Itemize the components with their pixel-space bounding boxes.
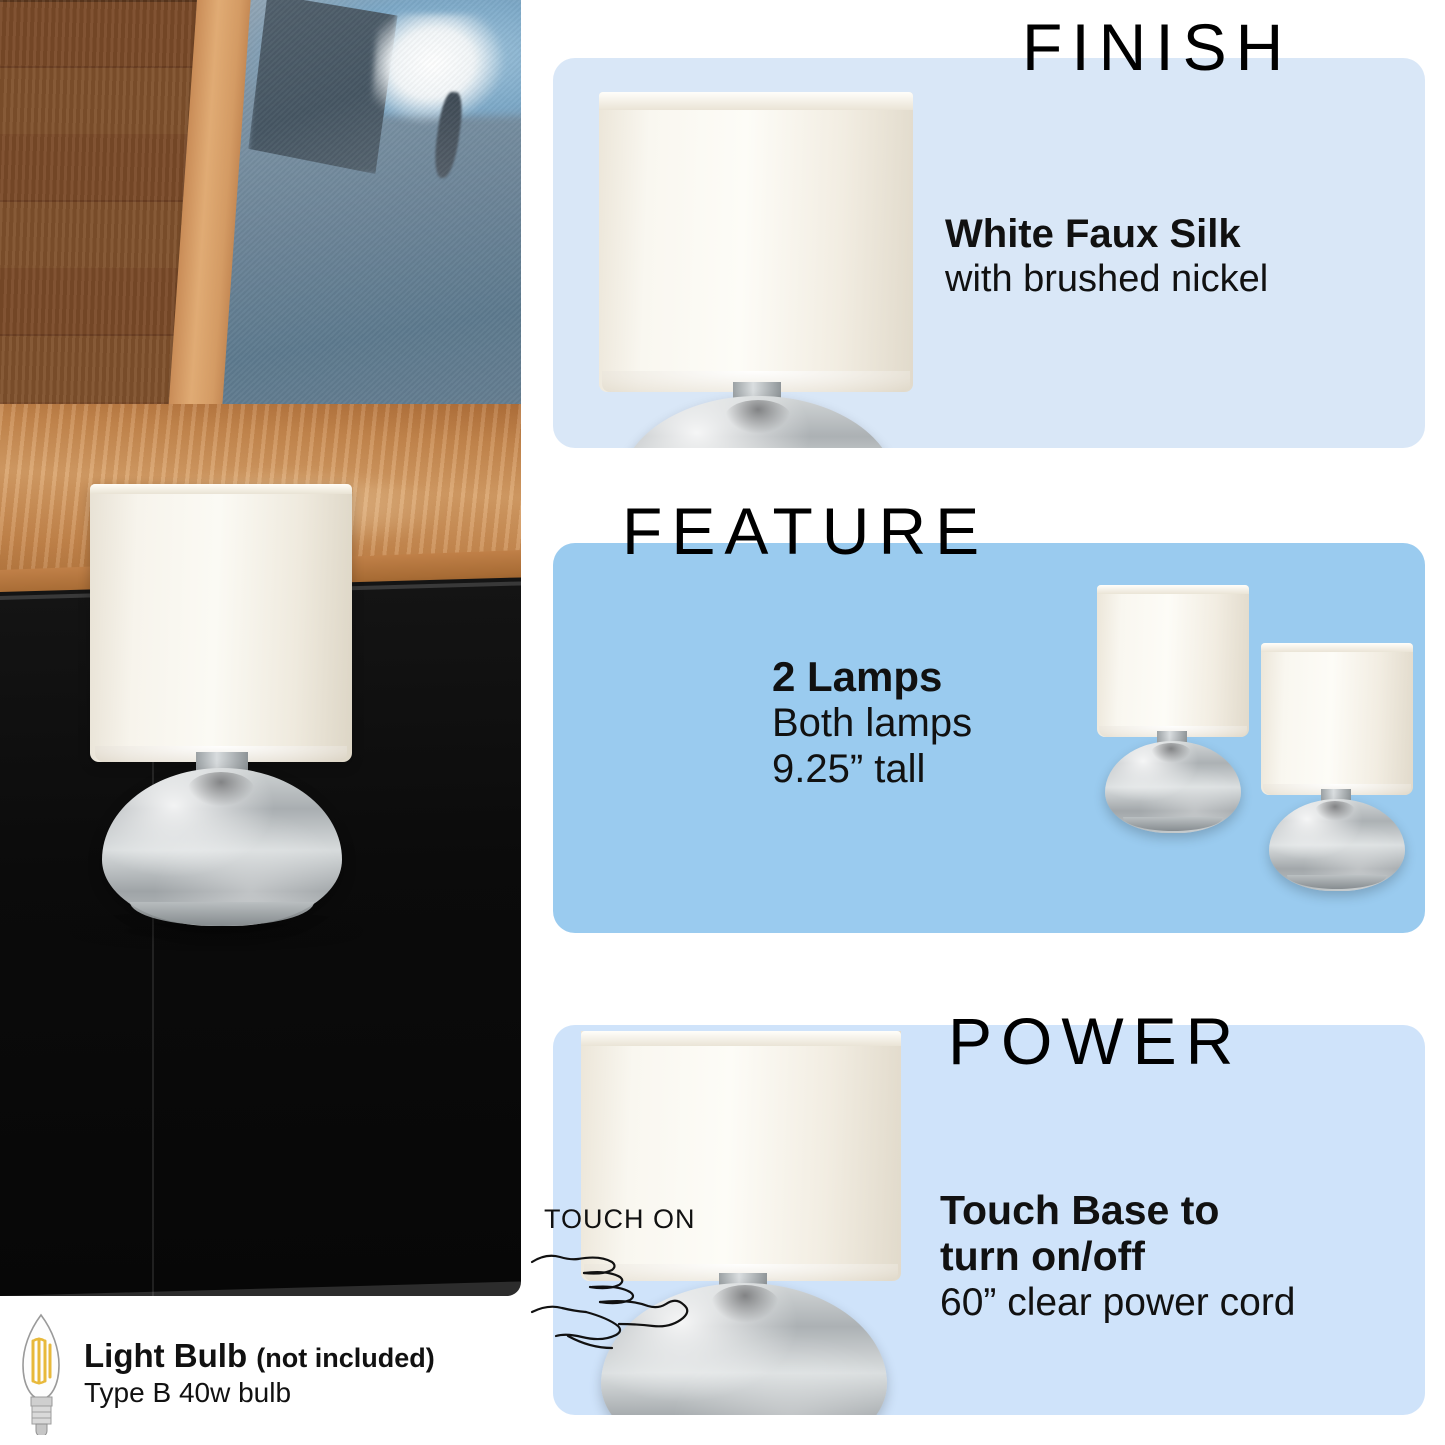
lamp-base-dimple	[725, 400, 791, 434]
finish-line-2: with brushed nickel	[945, 257, 1268, 301]
finish-heading: FINISH	[1022, 14, 1292, 80]
feature-text-block: 2 Lamps Both lamps 9.25” tall	[772, 653, 972, 793]
power-heading: POWER	[948, 1008, 1242, 1074]
feature-two-lamps-image	[1083, 585, 1423, 925]
feature-panel	[553, 543, 1425, 933]
lamp-shade	[1097, 585, 1249, 737]
lifestyle-photo	[0, 0, 521, 1296]
touch-hand-illustration	[528, 1228, 738, 1358]
feature-lamp-right	[1247, 643, 1425, 913]
power-line-3: 60” clear power cord	[940, 1280, 1296, 1325]
artwork-grain-texture	[220, 0, 521, 434]
feature-line-2: Both lamps	[772, 700, 972, 746]
light-bulb-icon	[12, 1311, 70, 1435]
feature-line-1: 2 Lamps	[772, 653, 972, 700]
light-bulb-text-block: Light Bulb (not included) Type B 40w bul…	[84, 1337, 435, 1409]
feature-heading: FEATURE	[622, 498, 988, 564]
lamp-shade	[599, 92, 913, 392]
lifestyle-touch-lamp	[76, 484, 366, 936]
lamp-shade	[90, 484, 352, 762]
power-text-block: Touch Base to turn on/off 60” clear powe…	[940, 1188, 1296, 1325]
power-line-2: turn on/off	[940, 1234, 1296, 1280]
power-line-1: Touch Base to	[940, 1188, 1296, 1234]
lamp-base-dimple	[1151, 743, 1191, 763]
lamp-base-foot	[1287, 875, 1387, 889]
lamp-base-dimple	[1315, 801, 1355, 821]
abstract-artwork	[220, 0, 521, 434]
finish-text-block: White Faux Silk with brushed nickel	[945, 212, 1268, 301]
feature-lamp-left	[1083, 585, 1263, 855]
finish-lamp-image	[591, 74, 931, 448]
light-bulb-title: Light Bulb (not included)	[84, 1337, 435, 1375]
light-bulb-description: Type B 40w bulb	[84, 1377, 435, 1409]
finish-line-1: White Faux Silk	[945, 212, 1268, 257]
light-bulb-footer: Light Bulb (not included) Type B 40w bul…	[0, 1300, 521, 1445]
lamp-base-foot	[1123, 817, 1223, 831]
lamp-shade	[1261, 643, 1413, 795]
feature-line-3: 9.25” tall	[772, 746, 972, 792]
lamp-base-foot	[130, 902, 314, 926]
light-bulb-title-suffix: (not included)	[256, 1343, 434, 1373]
light-bulb-title-main: Light Bulb	[84, 1337, 247, 1374]
lamp-base-dimple	[188, 772, 254, 806]
